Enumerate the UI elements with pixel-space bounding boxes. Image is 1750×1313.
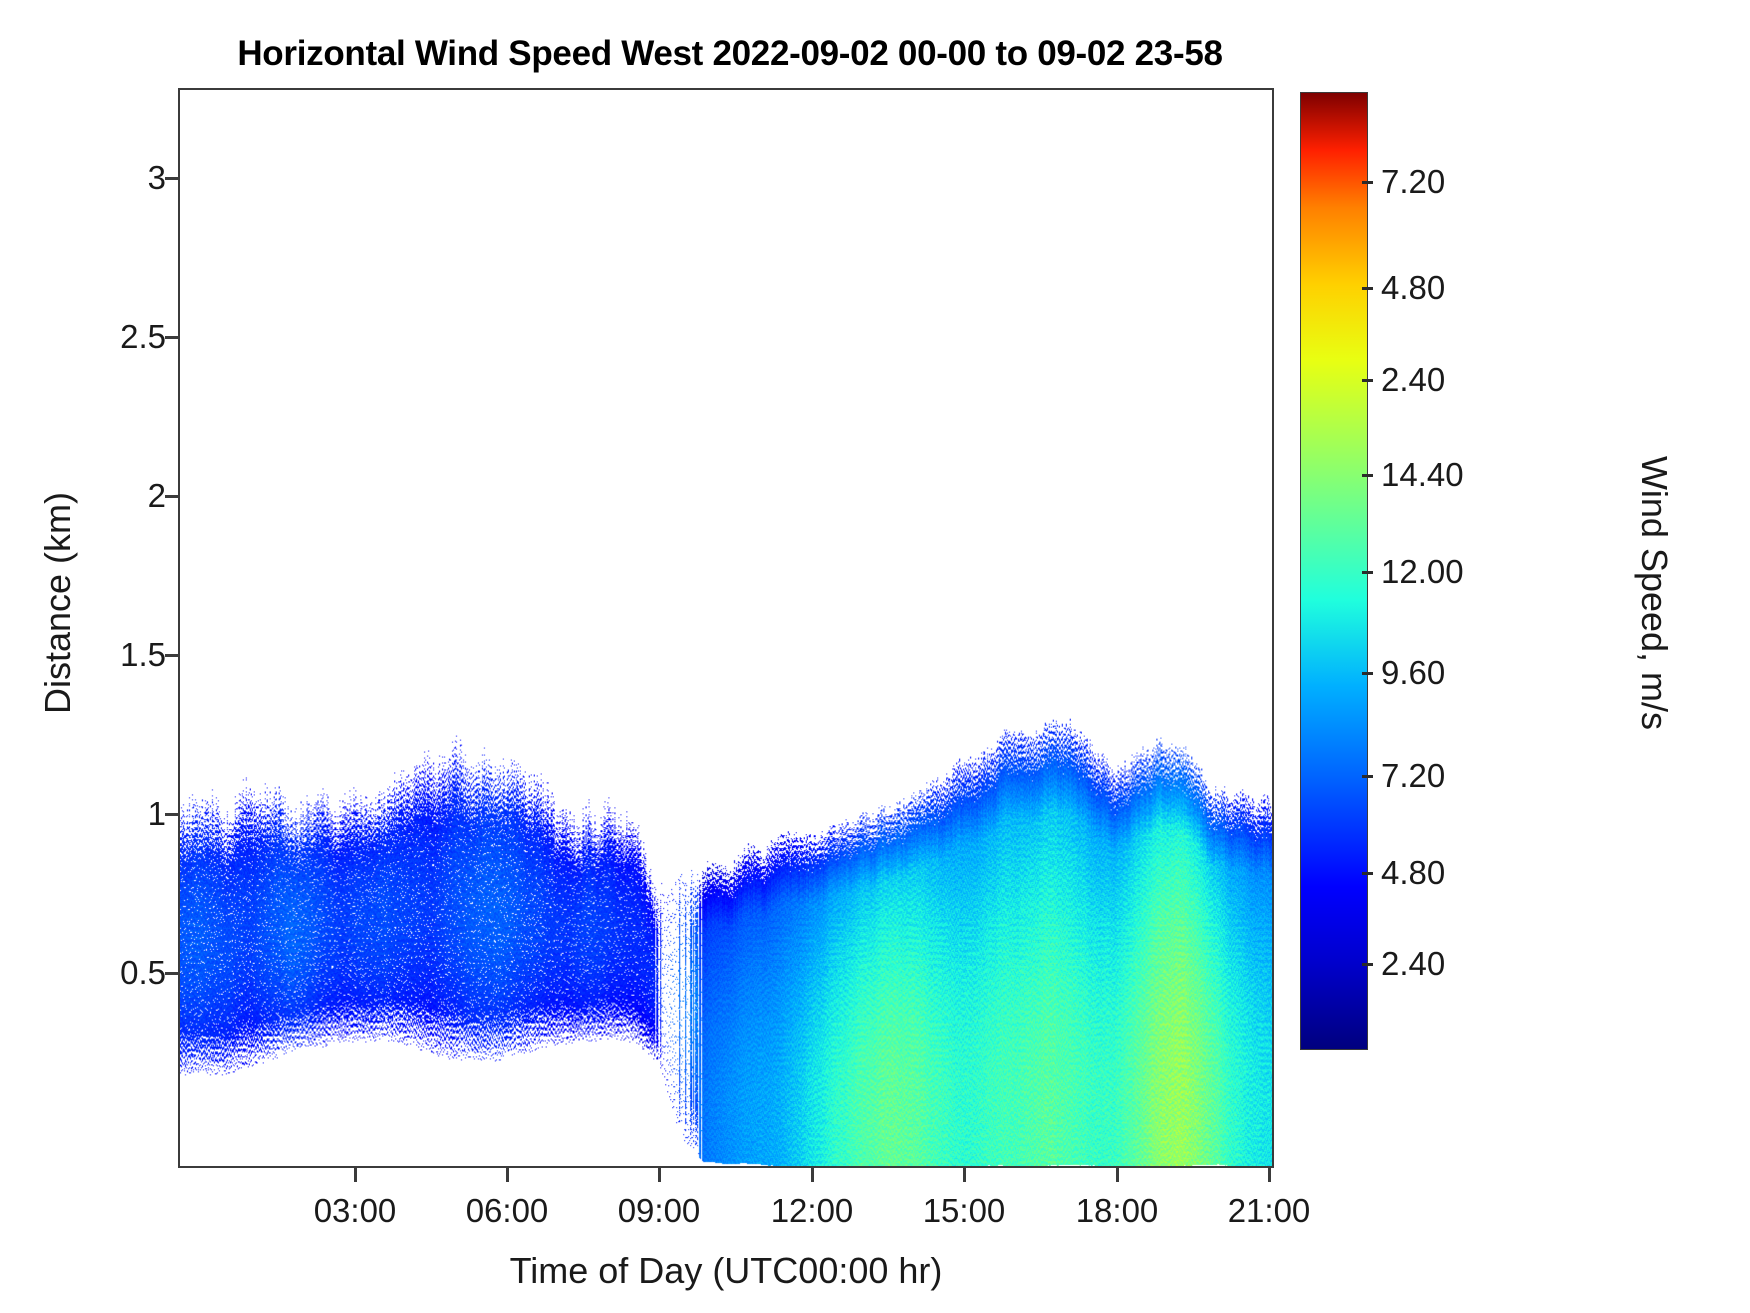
y-tick-label: 3	[148, 159, 166, 197]
colorbar-tick-label: 14.40	[1381, 456, 1464, 494]
plot-axes[interactable]	[178, 88, 1274, 1168]
x-tick-mark	[354, 1168, 357, 1182]
colorbar-container[interactable]	[1300, 92, 1368, 1050]
y-tick-label: 1	[148, 795, 166, 833]
y-tick-label: 2.5	[120, 318, 166, 356]
colorbar-tick-mark	[1362, 379, 1373, 382]
colorbar-tick-label: 2.40	[1381, 945, 1445, 983]
x-tick-label: 12:00	[771, 1192, 854, 1230]
y-tick-label: 2	[148, 477, 166, 515]
x-tick-label: 15:00	[923, 1192, 1006, 1230]
y-tick-mark	[165, 336, 178, 339]
colorbar-tick-label: 12.00	[1381, 553, 1464, 591]
x-tick-mark	[658, 1168, 661, 1182]
y-axis-label: Distance (km)	[37, 283, 79, 923]
x-tick-label: 21:00	[1228, 1192, 1311, 1230]
colorbar-tick-label: 7.20	[1381, 757, 1445, 795]
colorbar-tick-mark	[1362, 672, 1373, 675]
colorbar-tick-mark	[1362, 775, 1373, 778]
x-tick-mark	[811, 1168, 814, 1182]
chart-title: Horizontal Wind Speed West 2022-09-02 00…	[0, 34, 1460, 74]
y-tick-label: 1.5	[120, 636, 166, 674]
colorbar-tick-mark	[1362, 287, 1373, 290]
colorbar-tick-label: 7.20	[1381, 163, 1445, 201]
colorbar-tick-mark	[1362, 872, 1373, 875]
colorbar-tick-mark	[1362, 181, 1373, 184]
x-tick-label: 06:00	[466, 1192, 549, 1230]
colorbar-gradient[interactable]	[1300, 92, 1368, 1050]
colorbar-tick-label: 2.40	[1381, 361, 1445, 399]
y-tick-mark	[165, 654, 178, 657]
wind-speed-heatmap[interactable]	[180, 90, 1272, 1166]
colorbar-tick-label: 4.80	[1381, 854, 1445, 892]
colorbar-tick-label: 9.60	[1381, 654, 1445, 692]
colorbar-tick-mark	[1362, 571, 1373, 574]
colorbar-tick-mark	[1362, 963, 1373, 966]
y-tick-mark	[165, 495, 178, 498]
x-tick-mark	[1268, 1168, 1271, 1182]
y-tick-mark	[165, 972, 178, 975]
y-tick-mark	[165, 177, 178, 180]
x-tick-mark	[506, 1168, 509, 1182]
y-tick-mark	[165, 813, 178, 816]
x-tick-label: 09:00	[618, 1192, 701, 1230]
x-tick-label: 03:00	[314, 1192, 397, 1230]
colorbar-tick-label: 4.80	[1381, 269, 1445, 307]
colorbar-tick-mark	[1362, 474, 1373, 477]
y-tick-label: 0.5	[120, 954, 166, 992]
x-axis-label: Time of Day (UTC00:00 hr)	[178, 1250, 1274, 1292]
figure-root: Horizontal Wind Speed West 2022-09-02 00…	[0, 0, 1750, 1313]
x-tick-mark	[963, 1168, 966, 1182]
x-tick-mark	[1116, 1168, 1119, 1182]
colorbar-label: Wind Speed, m/s	[1633, 283, 1675, 903]
x-tick-label: 18:00	[1076, 1192, 1159, 1230]
